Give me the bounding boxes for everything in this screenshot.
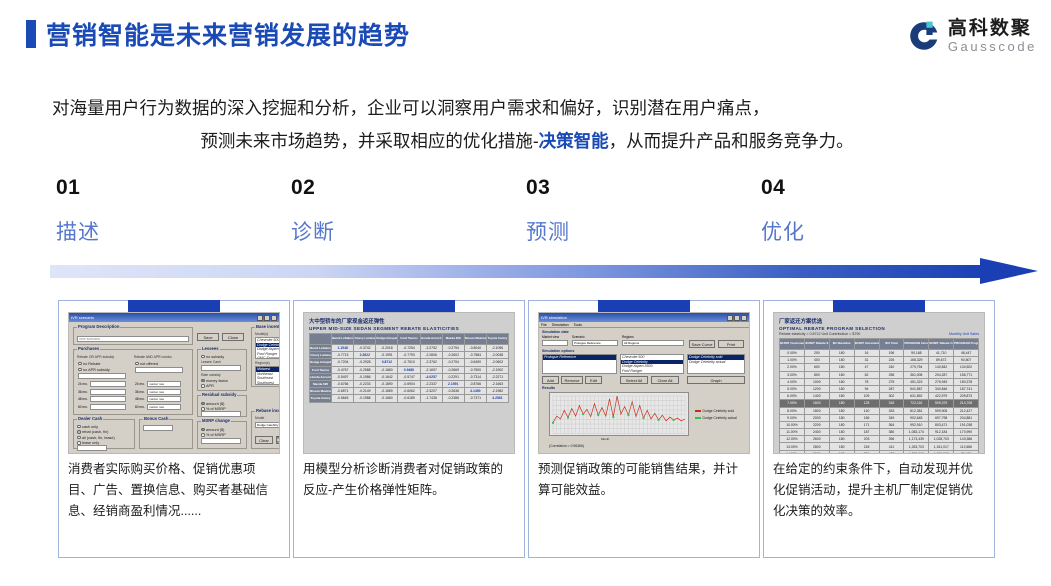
- close-button[interactable]: Close: [222, 333, 244, 341]
- table-cell: -0.1986: [354, 373, 376, 380]
- clear-all-button[interactable]: Clear All: [651, 376, 679, 384]
- rate-select[interactable]: market rate: [147, 389, 181, 395]
- title-accent-bar: [26, 20, 36, 48]
- scenario-select[interactable]: Prologue Reference: [572, 340, 618, 346]
- table-cell: 12.00%: [780, 436, 805, 443]
- table-cell: 396: [879, 436, 904, 443]
- gausscode-circle-logo: [907, 19, 941, 53]
- table-cell: -0.5747: [398, 373, 420, 380]
- print-button[interactable]: Print: [718, 340, 744, 348]
- table-cell: -2.2271: [486, 373, 508, 380]
- slide-header: 营销智能是未来营销发展的趋势 高科数聚 Gausscode: [0, 0, 1051, 72]
- term-label: 36 mo.: [135, 390, 146, 394]
- radio-label: APR: [206, 384, 214, 388]
- window-title: IVR scenario: [71, 315, 94, 320]
- progress-arrow-head: [980, 258, 1038, 284]
- select-apr-amount[interactable]: [135, 367, 183, 373]
- table-cell: 143,386: [954, 436, 979, 443]
- table-cell: 258: [879, 371, 904, 378]
- msrp-input[interactable]: [201, 438, 241, 444]
- table-note-right: Monthly Unit Sales: [949, 332, 979, 336]
- card-describe[interactable]: IVR scenario Program Description new sce…: [58, 300, 290, 558]
- table-cell: 73,400: [954, 450, 979, 454]
- column-header: Dodge Intrepid: [376, 334, 398, 345]
- step-04-label: 优化: [761, 216, 961, 246]
- table-cell: 3.00%: [780, 371, 805, 378]
- table-cell: 427: [879, 450, 904, 454]
- column-header: PROGRAM Incremental Contribution: [904, 339, 929, 350]
- model-select[interactable]: Dodge Celebrity: [255, 422, 280, 428]
- table-cell: 380: [879, 429, 904, 436]
- card-optimize[interactable]: 厂家返还方案优选 OPTIMAL REBATE PROGRAM SELECTIO…: [763, 300, 995, 558]
- regions-select[interactable]: All Regions: [622, 340, 684, 346]
- model-label: Model: [255, 416, 264, 420]
- table-cell: 31: [854, 357, 879, 364]
- term-row: 24 mo.market rate: [135, 381, 181, 387]
- table-cell: 140,842: [929, 364, 954, 371]
- restore-environment-button[interactable]: Restore current environment: [276, 436, 280, 444]
- list-item[interactable]: Ford Ranger: [621, 369, 683, 374]
- table-cell: -0.1860: [376, 366, 398, 373]
- group-program-description: Program Description new scenario: [73, 327, 193, 345]
- table-cell: 171: [854, 421, 879, 428]
- table-cell: 140: [854, 407, 879, 414]
- table-cell: 4.1490: [464, 388, 486, 395]
- table-cell: -0.6571: [332, 388, 354, 395]
- table-cell: -0.7793: [398, 352, 420, 359]
- window-buttons[interactable]: [257, 315, 277, 321]
- column-header: PROGRAM Program Profit: [954, 339, 979, 350]
- table-subtitle: UPPER MID-SIZE SEDAN SEGMENT REBATE ELAS…: [309, 326, 509, 331]
- page-title: 营销智能是未来营销发展的趋势: [46, 16, 410, 52]
- column-header: Toyota Camry: [486, 334, 508, 345]
- radio-label: % of MSRP: [206, 433, 226, 437]
- table-row: Honda Accord-0.5497-0.1986-0.1642-0.5747…: [310, 373, 509, 380]
- table-cell: -0.7584: [464, 352, 486, 359]
- radio-residual-amount[interactable]: amount ($): [201, 401, 224, 406]
- table-row: 12.00%26001802033961,173,4391,028,703143…: [780, 436, 979, 443]
- column-header: Ford Taurus: [398, 334, 420, 345]
- table-row: 3.00%80018062258361,008204,287156,771: [780, 371, 979, 378]
- menu-tools[interactable]: Tools: [574, 323, 582, 327]
- table-cell: 187: [854, 429, 879, 436]
- column-header: $/UNIT Rebate $: [804, 339, 829, 350]
- step-01: 01 描述: [56, 176, 256, 246]
- column-header: $/UNIT Rebate Cost: [929, 339, 954, 350]
- table-cell: -0.6904: [398, 380, 420, 387]
- table-cell: 78: [854, 378, 879, 385]
- table-cell: 902,645: [904, 414, 929, 421]
- table-cell: 318: [879, 400, 904, 407]
- table-cell: -0.1642: [376, 373, 398, 380]
- table-cell: 1600: [804, 400, 829, 407]
- table-cell: -0.2588: [354, 366, 376, 373]
- menu-file[interactable]: File: [541, 323, 547, 327]
- table-cell: -0.2636: [442, 388, 464, 395]
- table-row: 13.00%28001802184111,263,7031,161,017112…: [780, 443, 979, 450]
- term-row: 60 mo.market rate: [135, 404, 181, 410]
- titlebar: IVR scenario: [69, 313, 279, 322]
- table-cell: -0.7204: [332, 359, 354, 366]
- radio-cash-only[interactable]: cash only: [77, 424, 98, 429]
- table-cell: 1,353,968: [904, 450, 929, 454]
- table-cell: -0.2928: [354, 359, 376, 366]
- table-cell: 276,949: [929, 378, 954, 385]
- table-cell: -0.7314: [464, 373, 486, 380]
- paragraph-line-2-before: 预测未来市场趋势，并采取相应的优化措施-: [200, 131, 538, 151]
- table-cell: 180: [829, 400, 854, 407]
- screenshot-optimal-rebate-table: 厂家返还方案优选 OPTIMAL REBATE PROGRAM SELECTIO…: [773, 312, 985, 454]
- progress-arrow: [50, 258, 1040, 292]
- rate-select[interactable]: market rate: [147, 404, 181, 410]
- table-cell: 156,771: [954, 371, 979, 378]
- column-header: Mazda 626: [442, 334, 464, 345]
- step-02-label: 诊断: [291, 216, 491, 246]
- table-cell: 180: [829, 450, 854, 454]
- group-label: Base incentives: [255, 324, 280, 329]
- table-cell: 109: [854, 393, 879, 400]
- column-header: $/U Total: [879, 339, 904, 350]
- table-cell: 180: [829, 371, 854, 378]
- table-cell: -0.2386: [442, 395, 464, 402]
- term-rows-left: 24 mo. 36 mo. 48 mo. 60 mo.: [78, 381, 126, 410]
- term-input[interactable]: [90, 381, 126, 387]
- regions-label: Region(s): [255, 361, 270, 365]
- paragraph-highlight: 决策智能: [539, 131, 609, 151]
- table-note-left: Rebate elasticity = 0.8712 Unit Contribu…: [779, 332, 860, 336]
- market-view-select[interactable]: [542, 340, 568, 346]
- table-row: Ford Taurus-0.4767-0.2588-0.18600.9480-2…: [310, 366, 509, 373]
- results-chart: [549, 392, 689, 436]
- radio-no-subsidy[interactable]: no subsidy: [201, 354, 224, 359]
- list-item[interactable]: Southwest: [256, 381, 280, 386]
- add-button[interactable]: Add: [542, 376, 559, 384]
- radio-all[interactable]: all (cash, fin, lease): [77, 435, 115, 440]
- table-cell: 364: [879, 421, 904, 428]
- group-base-incentives: Base incentives Model(s) Chevrolet 500 D…: [251, 327, 280, 387]
- list-item[interactable]: Prologue Reference: [543, 355, 616, 360]
- radio-label: no APR subsidy: [83, 368, 110, 372]
- table-cell: 2000: [804, 414, 829, 421]
- radio-msrp-pct[interactable]: % of MSRP: [201, 433, 226, 438]
- table-header-row: $/UNIT Customer Price$/UNIT Rebate $$/U …: [780, 339, 979, 350]
- table-cell: 0.8712: [376, 359, 398, 366]
- table-cell: 1200: [804, 385, 829, 392]
- radio-label: money factor: [206, 379, 228, 383]
- table-cell: -0.6062: [398, 388, 420, 395]
- table-cell: 41,710: [929, 350, 954, 357]
- card-caption: 预测促销政策的可能销售结果，并计算可能效益。: [538, 459, 750, 501]
- table-cell: -0.6490: [464, 359, 486, 366]
- radio-label: cash only: [82, 425, 98, 429]
- table-cell: 509,375: [929, 400, 954, 407]
- group-msrp-change: MSRP change amount ($) % of MSRP: [197, 421, 247, 449]
- card-caption: 消费者实际购买价格、促销优惠项目、广告、置换信息、购买者基础信息、经销商盈利情况…: [68, 459, 280, 522]
- table-cell: 89,672: [929, 357, 954, 364]
- screenshot-simulation-window: IVR simulation File Simulation Tools Sim…: [538, 312, 750, 454]
- group-dealer-cash: Dealer Cash cash only rebat (cash, fin) …: [73, 419, 135, 449]
- table-cell: -0.2149: [354, 388, 376, 395]
- group-label: Lessees: [201, 346, 220, 351]
- step-03-number: 03: [526, 176, 726, 200]
- bonus-cash-input[interactable]: [143, 425, 173, 431]
- chart-x-axis-label: Month: [601, 437, 609, 441]
- group-label: MSRP change: [201, 418, 231, 423]
- table-cell: 47: [854, 364, 879, 371]
- legend-label: Dodge Celebrity actual: [703, 416, 737, 420]
- table-body: 0.00%2001801619690,16841,71048,4471.00%4…: [780, 350, 979, 455]
- table-cell: 180: [829, 436, 854, 443]
- table-cell: 180: [829, 407, 854, 414]
- corner-cell: [310, 334, 332, 345]
- select-rebate-amount[interactable]: [78, 373, 126, 379]
- description-input[interactable]: new scenario: [77, 336, 189, 342]
- table-cell: 1,263,703: [904, 443, 929, 450]
- table-cell: -2.1982: [486, 388, 508, 395]
- table-note: Rebate elasticity = 0.8712 Unit Contribu…: [779, 332, 979, 336]
- window-buttons[interactable]: [727, 315, 747, 321]
- table-cell: 6.00%: [780, 393, 805, 400]
- term-rows-right: 24 mo.market rate 36 mo.market rate 48 m…: [135, 381, 181, 410]
- table-cell: 209,873: [954, 393, 979, 400]
- clear-button[interactable]: Clear: [255, 436, 273, 444]
- radio-msrp-amount[interactable]: amount ($): [201, 427, 224, 432]
- screenshot-scenario-dialog: IVR scenario Program Description new sce…: [68, 312, 280, 454]
- card-caption: 在给定的约束条件下，自动发现并优化促销活动，提升主机厂制定促销优化决策的效率。: [773, 459, 985, 522]
- table-cell: 3000: [804, 450, 829, 454]
- table-cell: 180: [829, 364, 854, 371]
- table-cell: 156: [854, 414, 879, 421]
- scenario-list[interactable]: Prologue Reference: [542, 354, 617, 374]
- table-row: 14.00%30001802344271,353,9681,280,50873,…: [780, 450, 979, 454]
- table-cell: -0.1890: [376, 380, 398, 387]
- table-cell: -0.2669: [442, 366, 464, 373]
- table-cell: 722,116: [904, 400, 929, 407]
- table-cell: 1,083,174: [904, 429, 929, 436]
- table-cell: 287: [879, 385, 904, 392]
- radio-rebate-cash-fin[interactable]: rebat (cash, fin): [77, 430, 108, 435]
- lessee-cash-label: Lessee Cash: [201, 360, 221, 364]
- table-cell: 125: [854, 400, 879, 407]
- term-row: 36 mo.market rate: [135, 389, 181, 395]
- table-row: 11.00%24001801873801,083,174912,184170,9…: [780, 429, 979, 436]
- radio-label: not offered: [140, 362, 158, 366]
- table-cell: -2.0602: [486, 359, 508, 366]
- intro-paragraph: 对海量用户行为数据的深入挖掘和分析，企业可以洞察用户需求和偏好，识别潜在用户痛点…: [52, 92, 1002, 158]
- dealer-cash-input[interactable]: [77, 445, 107, 451]
- market-view-label: Market view: [542, 335, 559, 339]
- radio-label: rebat (cash, fin): [82, 430, 108, 434]
- table-cell: -0.5645: [332, 395, 354, 402]
- table-cell: -0.2602: [442, 352, 464, 359]
- card-diagnose[interactable]: 大中型轿车的厂家现金返还弹性 UPPER MID-SIZE SEDAN SEGM…: [293, 300, 525, 558]
- table-cell: 600: [804, 364, 829, 371]
- table-cell: 1000: [804, 378, 829, 385]
- select-all-button[interactable]: Select All: [620, 376, 648, 384]
- radio-not-offered[interactable]: not offered: [135, 361, 158, 366]
- edit-button[interactable]: Edit: [585, 376, 602, 384]
- group-label: Bonus Cash: [143, 416, 169, 421]
- table-header-row: Buick LeSabreChevy LuminaDodge IntrepidF…: [310, 334, 509, 345]
- table-cell: 180: [829, 393, 854, 400]
- table-cell: 203: [854, 436, 879, 443]
- table-cell: 180: [829, 429, 854, 436]
- table-cell: -0.4767: [332, 366, 354, 373]
- logo-name-cn: 高科数聚: [948, 19, 1037, 39]
- column-header: $/UNIT Customer Price: [780, 339, 805, 350]
- remove-button[interactable]: Remove: [561, 376, 583, 384]
- elasticity-table: Buick LeSabreChevy LuminaDodge IntrepidF…: [309, 333, 509, 403]
- table-cell: -2.3762: [420, 359, 442, 366]
- scenario-label: Scenario: [572, 335, 585, 339]
- rate-select[interactable]: market rate: [147, 396, 181, 402]
- table-cell: 180: [829, 385, 854, 392]
- sim-options-label: Simulation options: [542, 349, 574, 353]
- table-cell: 200: [804, 350, 829, 357]
- term-input[interactable]: [90, 396, 126, 402]
- table-cell: 0.00%: [780, 350, 805, 357]
- row-header: Ford Taurus: [310, 366, 332, 373]
- term-label: 36 mo.: [78, 390, 89, 394]
- table-cell: 112,686: [954, 443, 979, 450]
- list-item[interactable]: GMC Sonoma: [256, 356, 280, 359]
- table-cell: -0.2291: [442, 373, 464, 380]
- table-cell: 13.00%: [780, 443, 805, 450]
- table-cell: -0.7510: [398, 359, 420, 366]
- table-cell: 333: [879, 407, 904, 414]
- group-label: Rebase incentives: [255, 408, 280, 413]
- row-header: Nissan Maxima: [310, 388, 332, 395]
- models-list[interactable]: Chevrolet 500 Dodge Celebrity Dodge Aspe…: [255, 337, 280, 359]
- menubar[interactable]: File Simulation Tools: [539, 322, 749, 328]
- table-subtitle: OPTIMAL REBATE PROGRAM SELECTION: [779, 326, 979, 331]
- table-title: 厂家返还方案优选: [779, 317, 979, 325]
- table-cell: 803,471: [929, 421, 954, 428]
- term-label: 48 mo.: [135, 397, 146, 401]
- menu-simulation[interactable]: Simulation: [552, 323, 569, 327]
- sub-label-2: Rebate AND APR combo: [134, 355, 172, 359]
- table-cell: 2.1591: [442, 380, 464, 387]
- table-cell: 8.00%: [780, 407, 805, 414]
- save-curve-button[interactable]: Save Curve: [689, 340, 715, 348]
- step-03-label: 预测: [526, 216, 726, 246]
- table-cell: 1,173,439: [904, 436, 929, 443]
- residual-input[interactable]: [201, 411, 241, 417]
- table-cell: 196: [879, 350, 904, 357]
- table-cell: 187,741: [954, 385, 979, 392]
- table-row: Toyota Camry-0.5645-0.1988-0.1660-0.6189…: [310, 395, 509, 402]
- term-row: 60 mo.: [78, 404, 126, 410]
- table-cell: 62: [854, 371, 879, 378]
- table-cell: 90,807: [954, 357, 979, 364]
- table-cell: 9.00%: [780, 414, 805, 421]
- group-residual-subsidy: Residual subsidy amount ($) % of MSRP: [197, 395, 247, 417]
- save-button[interactable]: Save: [197, 333, 219, 341]
- slide-root: 营销智能是未来营销发展的趋势 高科数聚 Gausscode 对海量用户行为数据的…: [0, 0, 1051, 586]
- list-item[interactable]: Chevrolet 500: [256, 338, 280, 343]
- term-input[interactable]: [90, 404, 126, 410]
- table-cell: 180: [829, 421, 854, 428]
- table-cell: -2.3207: [420, 388, 442, 395]
- table-row: 0.00%2001801619690,16841,71048,447: [780, 350, 979, 357]
- list-item[interactable]: Dodge Aspen 5500: [256, 347, 280, 352]
- card-row: IVR scenario Program Description new sce…: [0, 300, 1051, 565]
- table-row: 2.00%60018047240279,754140,842134,502: [780, 364, 979, 371]
- table-cell: 4.00%: [780, 378, 805, 385]
- list-item[interactable]: Dodge Celebrity actual: [688, 360, 744, 365]
- models-list[interactable]: Chevrolet 500 Dodge Celebrity Dodge Aspe…: [620, 354, 684, 374]
- table-cell: -2.1096: [486, 345, 508, 352]
- regions-list[interactable]: Midwest Northeast Southeast Southwest: [255, 366, 280, 385]
- table-cell: 180: [829, 414, 854, 421]
- table-cell: 2.2622: [354, 352, 376, 359]
- table-cell: 1800: [804, 407, 829, 414]
- table-cell: -0.7500: [464, 366, 486, 373]
- table-cell: -2.2752: [420, 345, 442, 352]
- rate-subsidy-label: Rate subsidy: [201, 373, 221, 377]
- lessee-cash-input[interactable]: [201, 365, 241, 371]
- paragraph-line-2-after: ，从而提升产品和服务竞争力。: [609, 131, 854, 151]
- table-cell: -0.7371: [464, 395, 486, 402]
- table-cell: 16: [854, 350, 879, 357]
- legend-item-actual: Dodge Celebrity actual: [695, 416, 737, 420]
- table-cell: 2200: [804, 421, 829, 428]
- radio-apr[interactable]: APR: [201, 384, 214, 389]
- term-input[interactable]: [90, 389, 126, 395]
- sim-date-label: Simulation date: [542, 330, 569, 334]
- output-list[interactable]: Dodge Celebrity sold Dodge Celebrity act…: [687, 354, 745, 374]
- rate-select[interactable]: market rate: [147, 381, 181, 387]
- radio-money-factor[interactable]: money factor: [201, 378, 228, 383]
- win-ivr-scenario: IVR scenario Program Description new sce…: [69, 313, 279, 453]
- table-cell: 631,852: [904, 393, 929, 400]
- radio-no-apr[interactable]: no APR subsidy: [78, 367, 110, 372]
- term-label: 60 mo.: [135, 405, 146, 409]
- win-ivr-simulation: IVR simulation File Simulation Tools Sim…: [539, 313, 749, 453]
- rebate-table: $/UNIT Customer Price$/UNIT Rebate $$/U …: [779, 338, 979, 454]
- table-cell: 1.00%: [780, 357, 805, 364]
- row-header: Chevy Lumina: [310, 352, 332, 359]
- step-02: 02 诊断: [291, 176, 491, 246]
- table-cell: -0.3742: [354, 345, 376, 352]
- radio-no-rebate[interactable]: no Rebate: [78, 361, 101, 366]
- table-cell: 541,587: [904, 385, 929, 392]
- card-predict[interactable]: IVR simulation File Simulation Tools Sim…: [528, 300, 760, 558]
- paragraph-line-1: 对海量用户行为数据的深入挖掘和分析，企业可以洞察用户需求和偏好，识别潜在用户痛点…: [52, 92, 1002, 125]
- table-cell: -0.1991: [376, 352, 398, 359]
- table-cell: -0.1988: [354, 395, 376, 402]
- table-cell: 400: [804, 357, 829, 364]
- legend-label: Dodge Celebrity sold: [703, 409, 734, 413]
- table-row: Nissan Maxima-0.6571-0.2149-0.1869-0.606…: [310, 388, 509, 395]
- table-cell: 180: [829, 378, 854, 385]
- table-cell: 134,502: [954, 364, 979, 371]
- table-cell: 214,708: [954, 400, 979, 407]
- term-label: 48 mo.: [78, 397, 89, 401]
- table-row: 7.00%1600180125318722,116509,375214,708: [780, 400, 979, 407]
- table-cell: -4.0257: [420, 373, 442, 380]
- table-row: Buick LeSabre1.1548-0.3742-0.2018-0.7254…: [310, 345, 509, 352]
- column-header: Buick LeSabre: [332, 334, 354, 345]
- table-cell: 2800: [804, 443, 829, 450]
- table-row: Mazda 626-0.6766-0.2233-0.1890-0.6904-2.…: [310, 380, 509, 387]
- graph-button[interactable]: Graph: [687, 376, 745, 384]
- table-cell: 180: [829, 350, 854, 357]
- table-cell: 302: [879, 393, 904, 400]
- table-optimal-rebate: 厂家返还方案优选 OPTIMAL REBATE PROGRAM SELECTIO…: [774, 313, 984, 453]
- card-caption: 用模型分析诊断消费者对促销政策的反应-产生价格弹性矩阵。: [303, 459, 515, 501]
- table-cell: 226: [879, 357, 904, 364]
